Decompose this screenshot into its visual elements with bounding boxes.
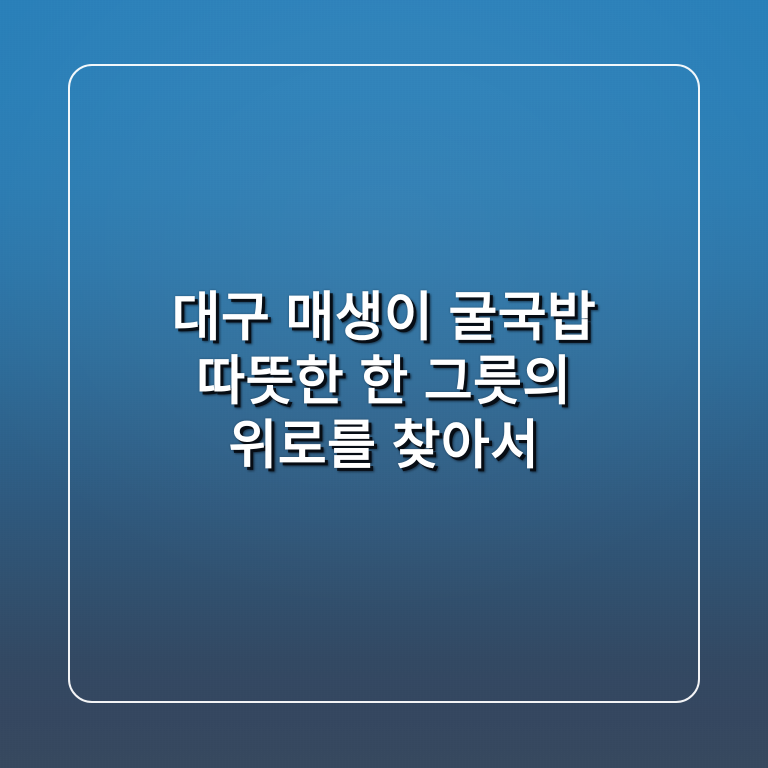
headline-line-1: 대구 매생이 굴국밥: [44, 286, 724, 350]
poster-canvas: 대구 매생이 굴국밥 따뜻한 한 그릇의 위로를 찾아서: [0, 0, 768, 768]
headline-line-2: 따뜻한 한 그릇의: [44, 350, 724, 414]
headline-line-3: 위로를 찾아서: [44, 414, 724, 478]
headline-block: 대구 매생이 굴국밥 따뜻한 한 그릇의 위로를 찾아서: [0, 286, 768, 478]
